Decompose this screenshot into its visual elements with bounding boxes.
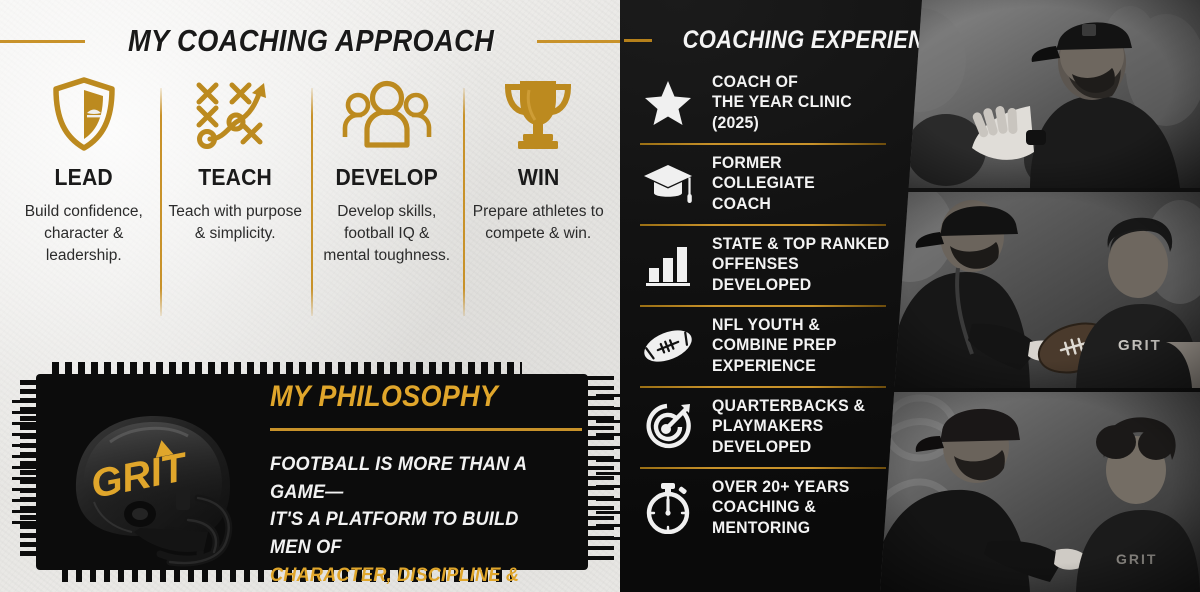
football-icon <box>640 320 696 372</box>
star-icon <box>640 77 696 129</box>
pillar-develop: DEVELOP Develop skills, football IQ & me… <box>311 78 463 328</box>
trophy-icon <box>501 78 575 150</box>
pillar-title: DEVELOP <box>336 164 438 191</box>
philosophy-statement: FOOTBALL IS MORE THAN A GAME— IT'S A PLA… <box>270 451 560 592</box>
list-item[interactable]: FORMERCOLLEGIATECOACH <box>640 143 916 224</box>
pillar-title: TEACH <box>198 164 272 191</box>
pillar-win: WIN Prepare athletes to compete & win. <box>463 78 615 328</box>
philosophy-title: MY PHILOSOPHY <box>270 380 551 414</box>
people-group-icon <box>341 78 433 150</box>
bar-chart-icon <box>640 239 696 291</box>
shield-icon <box>51 78 117 150</box>
pillars-row: LEAD Build confidence, character & leade… <box>8 78 614 328</box>
stopwatch-icon <box>640 482 696 534</box>
page-title: MY COACHING APPROACH <box>128 23 494 59</box>
coaching-poster: MY COACHING APPROACH LEAD Build confiden… <box>0 0 1200 592</box>
list-item[interactable]: QUARTERBACKS &PLAYMAKERSDEVELOPED <box>640 386 916 467</box>
list-item-label: QUARTERBACKS &PLAYMAKERSDEVELOPED <box>712 396 865 456</box>
philosophy-text-block: MY PHILOSOPHY FOOTBALL IS MORE THAN A GA… <box>270 380 582 592</box>
photo-coach-instructing-youth <box>880 0 1200 188</box>
list-item[interactable]: STATE & TOP RANKEDOFFENSESDEVELOPED <box>640 224 916 305</box>
football-helmet-image: GRIT <box>48 402 258 568</box>
target-icon <box>640 401 696 453</box>
pillar-description: Build confidence, character & leadership… <box>16 201 152 267</box>
pillar-lead: LEAD Build confidence, character & leade… <box>8 78 160 328</box>
header-dash-left-icon <box>0 40 85 43</box>
pillar-description: Teach with purpose & simplicity. <box>168 201 304 245</box>
list-item-label: COACH OFTHE YEAR CLINIC(2025) <box>712 72 852 132</box>
left-column: MY COACHING APPROACH LEAD Build confiden… <box>0 0 622 592</box>
philosophy-line-3: CHARACTER, DISCIPLINE & PURPOSE. <box>270 562 560 592</box>
list-item-label: STATE & TOP RANKEDOFFENSESDEVELOPED <box>712 234 889 294</box>
philosophy-line-1: FOOTBALL IS MORE THAN A GAME— <box>270 451 560 506</box>
list-item-label: FORMERCOLLEGIATECOACH <box>712 153 815 213</box>
graduation-cap-icon <box>640 158 696 210</box>
pillar-teach: TEACH Teach with purpose & simplicity. <box>160 78 312 328</box>
photo-coach-mentoring-athlete: GRIT <box>880 392 1200 592</box>
list-item-label: OVER 20+ YEARSCOACHING &MENTORING <box>712 477 850 537</box>
list-item[interactable]: COACH OFTHE YEAR CLINIC(2025) <box>640 62 916 143</box>
list-item[interactable]: NFL YOUTH &COMBINE PREPEXPERIENCE <box>640 305 916 386</box>
playbook-icon <box>190 78 280 150</box>
experience-dash-left-icon <box>624 39 652 42</box>
pillar-description: Prepare athletes to compete & win. <box>471 201 607 245</box>
list-item-label: NFL YOUTH &COMBINE PREPEXPERIENCE <box>712 315 837 375</box>
philosophy-card: GRIT MY PHILOSOPHY FOOTBALL IS MORE THAN… <box>22 366 602 578</box>
philosophy-line-2: IT'S A PLATFORM TO BUILD MEN OF <box>270 506 560 561</box>
photo-column: GRIT <box>880 0 1200 592</box>
photo-coach-handing-football: GRIT <box>880 192 1200 388</box>
pillar-title: WIN <box>517 164 559 191</box>
list-item[interactable]: OVER 20+ YEARSCOACHING &MENTORING <box>640 467 916 548</box>
experience-title: COACHING EXPERIENCE <box>683 26 956 55</box>
pillar-description: Develop skills, football IQ & mental tou… <box>319 201 455 267</box>
header-dash-right-icon <box>537 40 633 43</box>
experience-list: COACH OFTHE YEAR CLINIC(2025) FORMERCOLL… <box>640 62 916 548</box>
approach-header: MY COACHING APPROACH <box>0 22 622 60</box>
pillar-title: LEAD <box>55 164 113 191</box>
philosophy-rule <box>270 428 582 431</box>
